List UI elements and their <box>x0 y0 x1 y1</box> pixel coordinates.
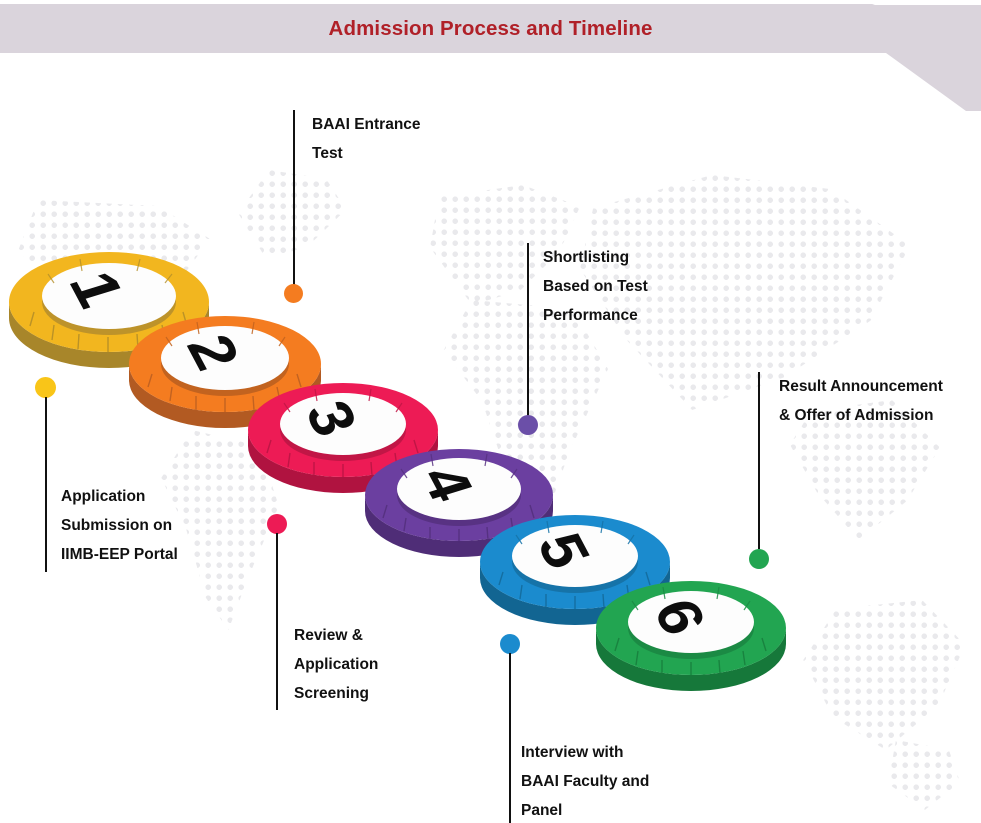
callout-text-review-application-screening: Review & Application Screening <box>294 621 378 708</box>
callout-dot-shortlisting-based-on-test <box>518 415 538 435</box>
callout-line: Result Announcement <box>779 372 943 401</box>
callout-line: Review & <box>294 621 378 650</box>
callout-line: Screening <box>294 679 378 708</box>
callout-dot-review-application-screening <box>267 514 287 534</box>
callout-line: Submission on <box>61 511 178 540</box>
map-region-oceania <box>880 740 960 810</box>
callout-stem-interview-with-baai-faculty <box>509 653 511 823</box>
callout-line: Test <box>312 139 421 168</box>
callout-text-result-announcement: Result Announcement & Offer of Admission <box>779 372 943 430</box>
callout-text-interview-with-baai-faculty: Interview with BAAI Faculty and Panel <box>521 738 649 823</box>
callout-line: Shortlisting <box>543 243 648 272</box>
callout-stem-baai-entrance-test <box>293 110 295 285</box>
callout-line: Based on Test <box>543 272 648 301</box>
callout-line: Application <box>61 482 178 511</box>
callout-stem-review-application-screening <box>276 533 278 710</box>
infographic-canvas: 1 2 <box>0 0 981 823</box>
map-region-australia <box>800 600 965 750</box>
callout-text-application-submission: Application Submission on IIMB-EEP Porta… <box>61 482 178 569</box>
callout-text-shortlisting-based-on-test: Shortlisting Based on Test Performance <box>543 243 648 330</box>
callout-line: Panel <box>521 796 649 823</box>
callout-text-baai-entrance-test: BAAI Entrance Test <box>312 110 421 168</box>
callout-line: Application <box>294 650 378 679</box>
step-ring-6[interactable]: 6 <box>595 575 787 693</box>
callout-line: BAAI Entrance <box>312 110 421 139</box>
callout-dot-baai-entrance-test <box>284 284 303 303</box>
map-region-greenland <box>236 170 346 260</box>
callout-stem-shortlisting-based-on-test <box>527 243 529 418</box>
callout-dot-result-announcement <box>749 549 769 569</box>
callout-line: BAAI Faculty and <box>521 767 649 796</box>
callout-stem-result-announcement <box>758 372 760 549</box>
callout-line: Performance <box>543 301 648 330</box>
callout-line: IIMB-EEP Portal <box>61 540 178 569</box>
callout-dot-interview-with-baai-faculty <box>500 634 520 654</box>
callout-line: & Offer of Admission <box>779 401 943 430</box>
callout-dot-application-submission <box>35 377 56 398</box>
callout-stem-application-submission <box>45 397 47 572</box>
callout-line: Interview with <box>521 738 649 767</box>
page-title: Admission Process and Timeline <box>0 4 981 53</box>
